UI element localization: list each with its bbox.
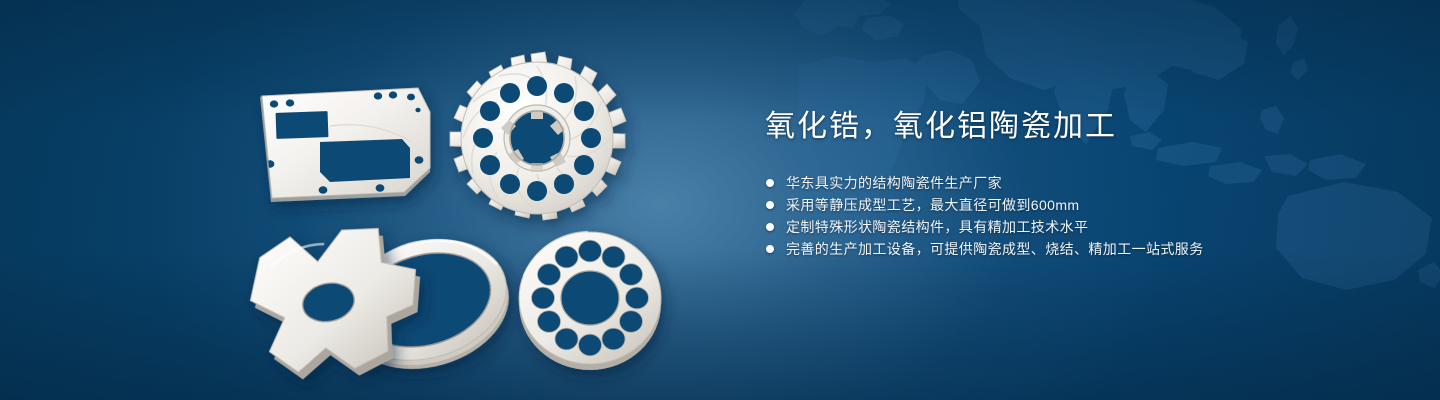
bullet-dot-icon [766,223,774,231]
list-item: 华东具实力的结构陶瓷件生产厂家 [765,172,1385,194]
banner-copy: 氧化锆，氧化铝陶瓷加工 华东具实力的结构陶瓷件生产厂家 采用等静压成型工艺，最大… [765,108,1385,260]
bullet-dot-icon [766,179,774,187]
list-item: 采用等静压成型工艺，最大直径可做到600mm [765,194,1385,216]
page-title: 氧化锆，氧化铝陶瓷加工 [765,108,1385,146]
list-item: 定制特殊形状陶瓷结构件，具有精加工技术水平 [765,216,1385,238]
ceramic-perforated-disc [519,232,661,370]
ceramic-machined-plate [260,88,430,202]
ceramic-impeller-disc [450,52,626,220]
bullet-dot-icon [766,201,774,209]
feature-text: 完善的生产加工设备，可提供陶瓷成型、烧结、精加工一站式服务 [786,241,1204,257]
feature-list: 华东具实力的结构陶瓷件生产厂家 采用等静压成型工艺，最大直径可做到600mm 定… [765,172,1385,260]
bullet-dot-icon [766,245,774,253]
promo-banner: 氧化锆，氧化铝陶瓷加工 华东具实力的结构陶瓷件生产厂家 采用等静压成型工艺，最大… [0,0,1440,400]
list-item: 完善的生产加工设备，可提供陶瓷成型、烧结、精加工一站式服务 [765,238,1385,260]
product-photo-cluster [0,0,760,400]
feature-text: 华东具实力的结构陶瓷件生产厂家 [786,175,1002,191]
feature-text: 定制特殊形状陶瓷结构件，具有精加工技术水平 [786,219,1088,235]
feature-text: 采用等静压成型工艺，最大直径可做到600mm [786,197,1079,213]
